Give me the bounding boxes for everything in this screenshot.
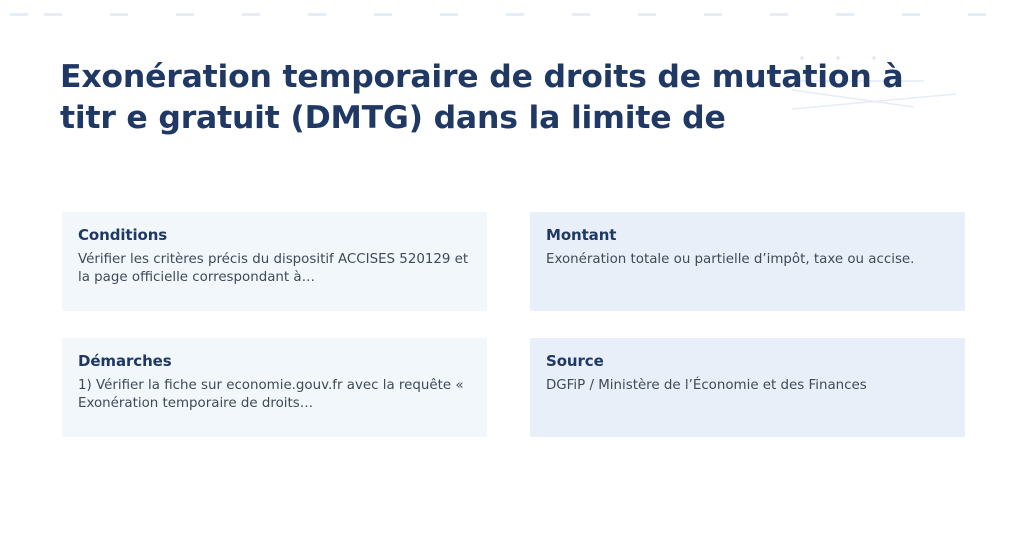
info-card-grid: Conditions Vérifier les critères précis …: [62, 212, 965, 437]
card-body-demarches: 1) Vérifier la fiche sur economie.gouv.f…: [78, 377, 471, 413]
card-body-montant: Exonération totale ou partielle d’impôt,…: [546, 251, 949, 269]
info-card-source: Source DGFiP / Ministère de l’Économie e…: [530, 338, 965, 437]
card-heading-montant: Montant: [546, 226, 949, 244]
card-body-source: DGFiP / Ministère de l’Économie et des F…: [546, 377, 949, 395]
page-title: Exonération temporaire de droits de muta…: [60, 57, 940, 139]
top-dashed-rule-decoration: [0, 13, 1024, 16]
card-body-conditions: Vérifier les critères précis du disposit…: [78, 251, 471, 287]
info-card-montant: Montant Exonération totale ou partielle …: [530, 212, 965, 311]
card-heading-demarches: Démarches: [78, 352, 471, 370]
info-card-demarches: Démarches 1) Vérifier la fiche sur econo…: [62, 338, 487, 437]
card-heading-conditions: Conditions: [78, 226, 471, 244]
slide-canvas: Exonération temporaire de droits de muta…: [0, 0, 1024, 538]
card-heading-source: Source: [546, 352, 949, 370]
info-card-conditions: Conditions Vérifier les critères précis …: [62, 212, 487, 311]
